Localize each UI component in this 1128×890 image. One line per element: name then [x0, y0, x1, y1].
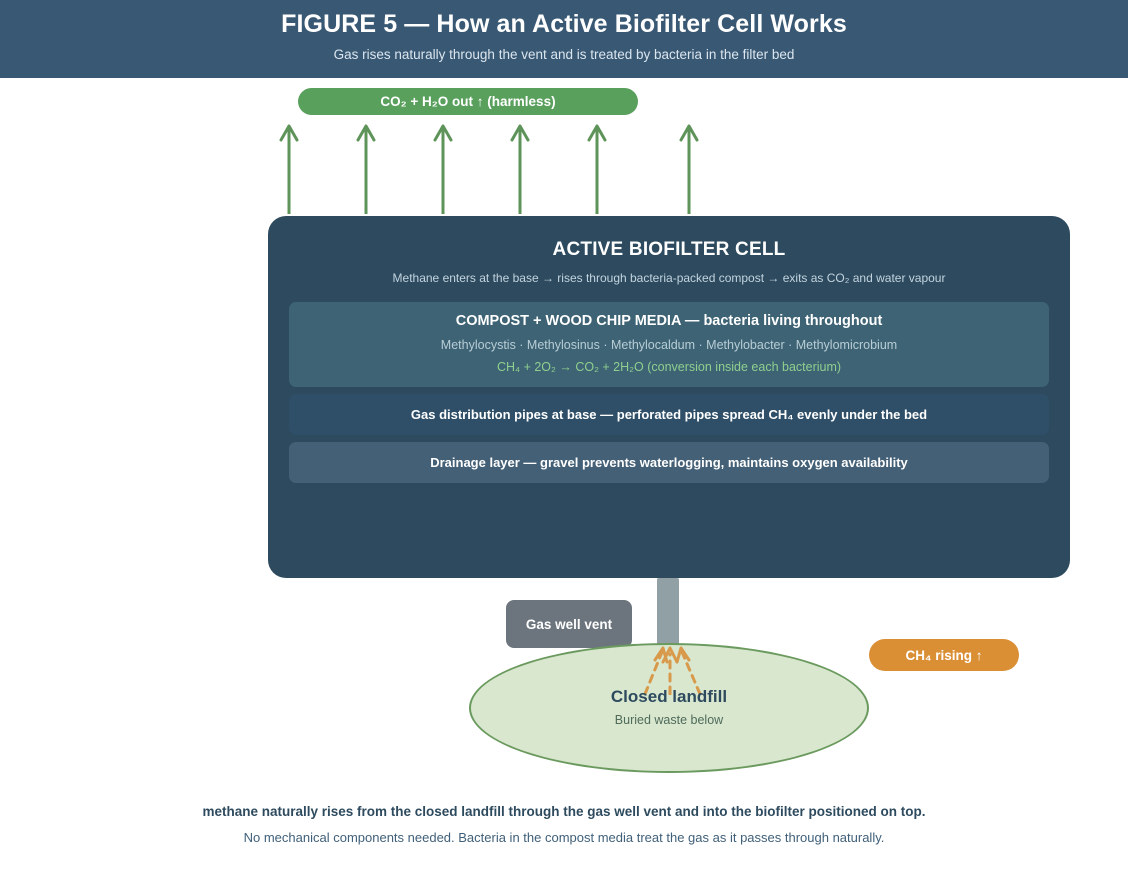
layer-gas-distribution-pipes: Gas distribution pipes at base — perfora…: [289, 394, 1049, 435]
closed-landfill-title: Closed landfill: [469, 687, 869, 707]
gas-well-vent-callout: Gas well vent: [506, 600, 632, 648]
biofilter-cell-title: ACTIVE BIOFILTER CELL: [289, 232, 1049, 261]
co2-output-badge: CO₂ + H₂O out ↑ (harmless): [298, 88, 638, 115]
closed-landfill-subtitle: Buried waste below: [469, 713, 869, 727]
biofilter-cell: ACTIVE BIOFILTER CELL Methane enters at …: [268, 216, 1070, 578]
bacteria-species-list: Methylocystis · Methylosinus · Methyloca…: [299, 329, 1039, 352]
up-arrow-icon: [270, 118, 720, 218]
biofilter-cell-subtitle: Methane enters at the base → rises throu…: [289, 261, 1049, 285]
figure-header: FIGURE 5 — How an Active Biofilter Cell …: [0, 0, 1128, 78]
gas-distribution-pipes-label: Gas distribution pipes at base — perfora…: [299, 407, 1039, 422]
methane-oxidation-equation: CH₄ + 2O₂ → CO₂ + 2H₂O (conversion insid…: [299, 352, 1039, 374]
page-title: FIGURE 5 — How an Active Biofilter Cell …: [0, 0, 1128, 40]
drainage-layer-label: Drainage layer — gravel prevents waterlo…: [299, 455, 1039, 470]
rising-gas-arrows: [270, 118, 720, 218]
footer-main-caption: methane naturally rises from the closed …: [0, 804, 1128, 819]
compost-media-title: COMPOST + WOOD CHIP MEDIA — bacteria liv…: [299, 313, 1039, 329]
page-subtitle: Gas rises naturally through the vent and…: [0, 40, 1128, 62]
layer-compost-media: COMPOST + WOOD CHIP MEDIA — bacteria liv…: [289, 302, 1049, 387]
gas-well-vent-pipe: [657, 578, 679, 649]
figure-footer: methane naturally rises from the closed …: [0, 804, 1128, 845]
ch4-rising-badge: CH₄ rising ↑: [869, 639, 1019, 671]
footer-sub-caption: No mechanical components needed. Bacteri…: [0, 819, 1128, 845]
layer-drainage: Drainage layer — gravel prevents waterlo…: [289, 442, 1049, 483]
